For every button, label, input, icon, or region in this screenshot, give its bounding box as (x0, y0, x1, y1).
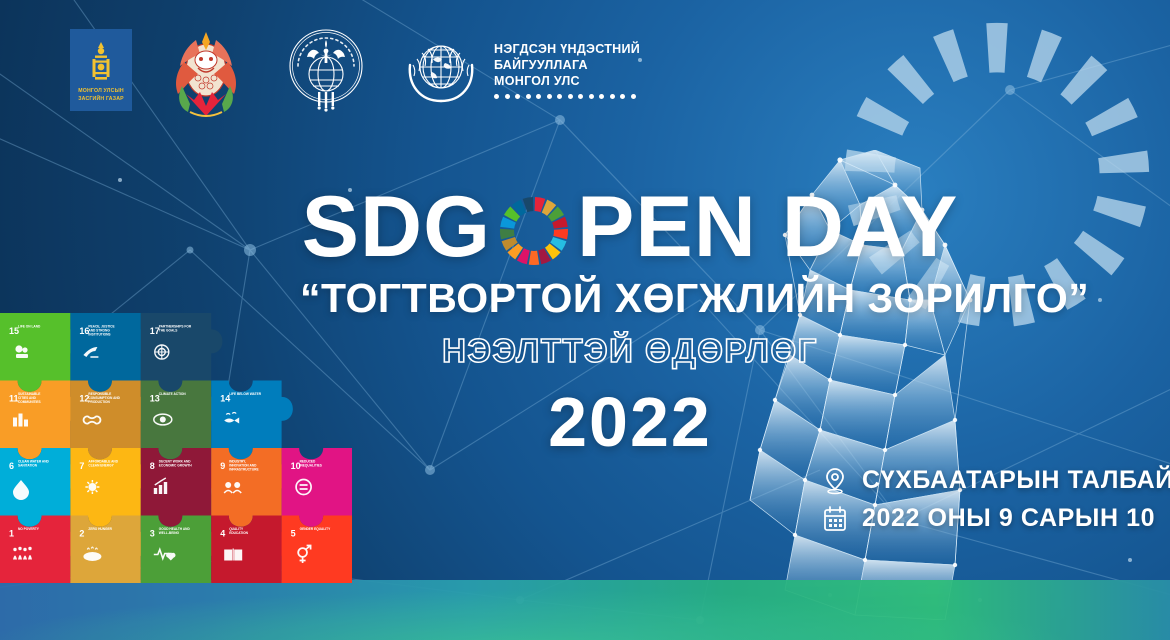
state-emblem-icon (160, 20, 252, 120)
svg-text:1: 1 (9, 529, 14, 539)
sdg-tile-14: 14LIFE BELOW WATER (211, 381, 293, 460)
svg-text:3: 3 (150, 529, 155, 539)
title-block: SDG PEN DAY “ТОГТВОРТОЙ ХӨГЖЛИЙН ЗОРИЛГО… (300, 185, 960, 462)
svg-text:7: 7 (79, 461, 84, 471)
soyombo-icon (88, 41, 114, 85)
un-label-line3: МОНГОЛ УЛС (494, 73, 640, 89)
sdg-tile-3: 3GOOD HEALTH ANDWELL-BEING (141, 516, 223, 584)
svg-text:PRODUCTION: PRODUCTION (88, 400, 110, 404)
svg-text:INSTITUTIONS: INSTITUTIONS (88, 333, 110, 337)
svg-text:CLEAN ENERGY: CLEAN ENERGY (88, 464, 114, 468)
svg-text:CLIMATE ACTION: CLIMATE ACTION (159, 392, 187, 396)
svg-text:COMMUNITIES: COMMUNITIES (18, 400, 41, 404)
sdg-color-wheel-icon (497, 194, 571, 268)
sdg-tile-16: 16PEACE, JUSTICEAND STRONGINSTITUTIONS (70, 313, 152, 392)
sdg-tile-12: 12RESPONSIBLECONSUMPTION ANDPRODUCTION (70, 381, 152, 460)
government-logo-line1: МОНГОЛ УЛСЫН (78, 88, 124, 96)
outline-subtitle: НЭЭЛТТЭЙ ӨДӨРЛӨГ (300, 332, 960, 370)
svg-text:LIFE ON LAND: LIFE ON LAND (18, 325, 41, 329)
main-title-part2: PEN DAY (577, 185, 958, 269)
svg-text:4: 4 (220, 529, 225, 539)
svg-text:WELL-BEING: WELL-BEING (159, 531, 180, 535)
sdg-tile-8: 8DECENT WORK ANDECONOMIC GROWTH (141, 448, 223, 527)
government-logo: МОНГОЛ УЛСЫН ЗАСГИЙН ГАЗАР (70, 29, 132, 111)
sdg-tile-1: 1NO POVERTY (0, 516, 82, 584)
un-dotted-rule (494, 94, 640, 99)
sdg-tile-6: 6CLEAN WATER ANDSANITATION (0, 448, 82, 527)
calendar-icon (822, 505, 848, 533)
event-info: СҮХБААТАРЫН ТАЛБАЙ 2022 ОНЫ 9 САРЫН 10 (822, 466, 1152, 542)
svg-text:THE GOALS: THE GOALS (159, 329, 178, 333)
location-text: СҮХБААТАРЫН ТАЛБАЙ (862, 466, 1170, 495)
sdg-tile-7: 7AFFORDABLE ANDCLEAN ENERGY (70, 448, 152, 527)
svg-text:ZERO HUNGER: ZERO HUNGER (88, 527, 112, 531)
svg-text:LIFE BELOW WATER: LIFE BELOW WATER (229, 392, 262, 396)
svg-text:5: 5 (291, 529, 296, 539)
date-row: 2022 ОНЫ 9 САРЫН 10 (822, 504, 1152, 533)
location-row: СҮХБААТАРЫН ТАЛБАЙ (822, 466, 1152, 495)
svg-text:EDUCATION: EDUCATION (229, 531, 248, 535)
bottom-gradient-strip (0, 580, 1170, 640)
sdg-tile-15: 15LIFE ON LAND (0, 313, 82, 392)
svg-text:INEQUALITIES: INEQUALITIES (300, 464, 322, 468)
svg-text:6: 6 (9, 461, 14, 471)
logo-bar: МОНГОЛ УЛСЫН ЗАСГИЙН ГАЗАР (0, 0, 720, 140)
svg-text:NO POVERTY: NO POVERTY (18, 527, 40, 531)
sdg-open-day-poster: МОНГОЛ УЛСЫН ЗАСГИЙН ГАЗАР (0, 0, 1170, 640)
un-label-line2: БАЙГУУЛЛАГА (494, 57, 640, 73)
sdg-tile-13: 13CLIMATE ACTION (141, 381, 223, 460)
svg-text:2: 2 (79, 529, 84, 539)
sdg-tile-11: 11SUSTAINABLECITIES ANDCOMMUNITIES (0, 381, 82, 460)
un-logo-block: НЭГДСЭН ҮНДЭСТНИЙ БАЙГУУЛЛАГА МОНГОЛ УЛС (400, 29, 640, 111)
sdg-tile-2: 2ZERO HUNGER (70, 516, 152, 584)
government-logo-line2: ЗАСГИЙН ГАЗАР (78, 96, 124, 104)
subtitle: “ТОГТВОРТОЙ ХӨГЖЛИЙН ЗОРИЛГО” (300, 275, 960, 322)
sdg-tile-4: 4QUALITYEDUCATION (211, 516, 293, 584)
main-title-part1: SDG (302, 185, 491, 269)
map-pin-icon (822, 467, 848, 495)
sdg-tile-17: 17PARTNERSHIPS FORTHE GOALS (141, 313, 223, 392)
svg-text:SANITATION: SANITATION (18, 464, 38, 468)
sdg-tile-9: 9INDUSTRY,INNOVATION ANDINFRASTRUCTURE (211, 448, 293, 527)
ministry-emblem-icon (280, 20, 372, 120)
svg-text:GENDER EQUALITY: GENDER EQUALITY (300, 527, 332, 531)
sdg-tile-5: 5GENDER EQUALITY (282, 516, 352, 584)
un-label-line1: НЭГДСЭН ҮНДЭСТНИЙ (494, 41, 640, 57)
year-label: 2022 (300, 382, 960, 462)
un-logo-icon (400, 29, 482, 111)
svg-text:9: 9 (220, 461, 225, 471)
svg-text:INFRASTRUCTURE: INFRASTRUCTURE (229, 468, 258, 472)
date-text: 2022 ОНЫ 9 САРЫН 10 (862, 504, 1155, 533)
svg-text:ECONOMIC GROWTH: ECONOMIC GROWTH (159, 464, 193, 468)
svg-text:8: 8 (150, 461, 155, 471)
main-title: SDG PEN DAY (300, 185, 960, 269)
